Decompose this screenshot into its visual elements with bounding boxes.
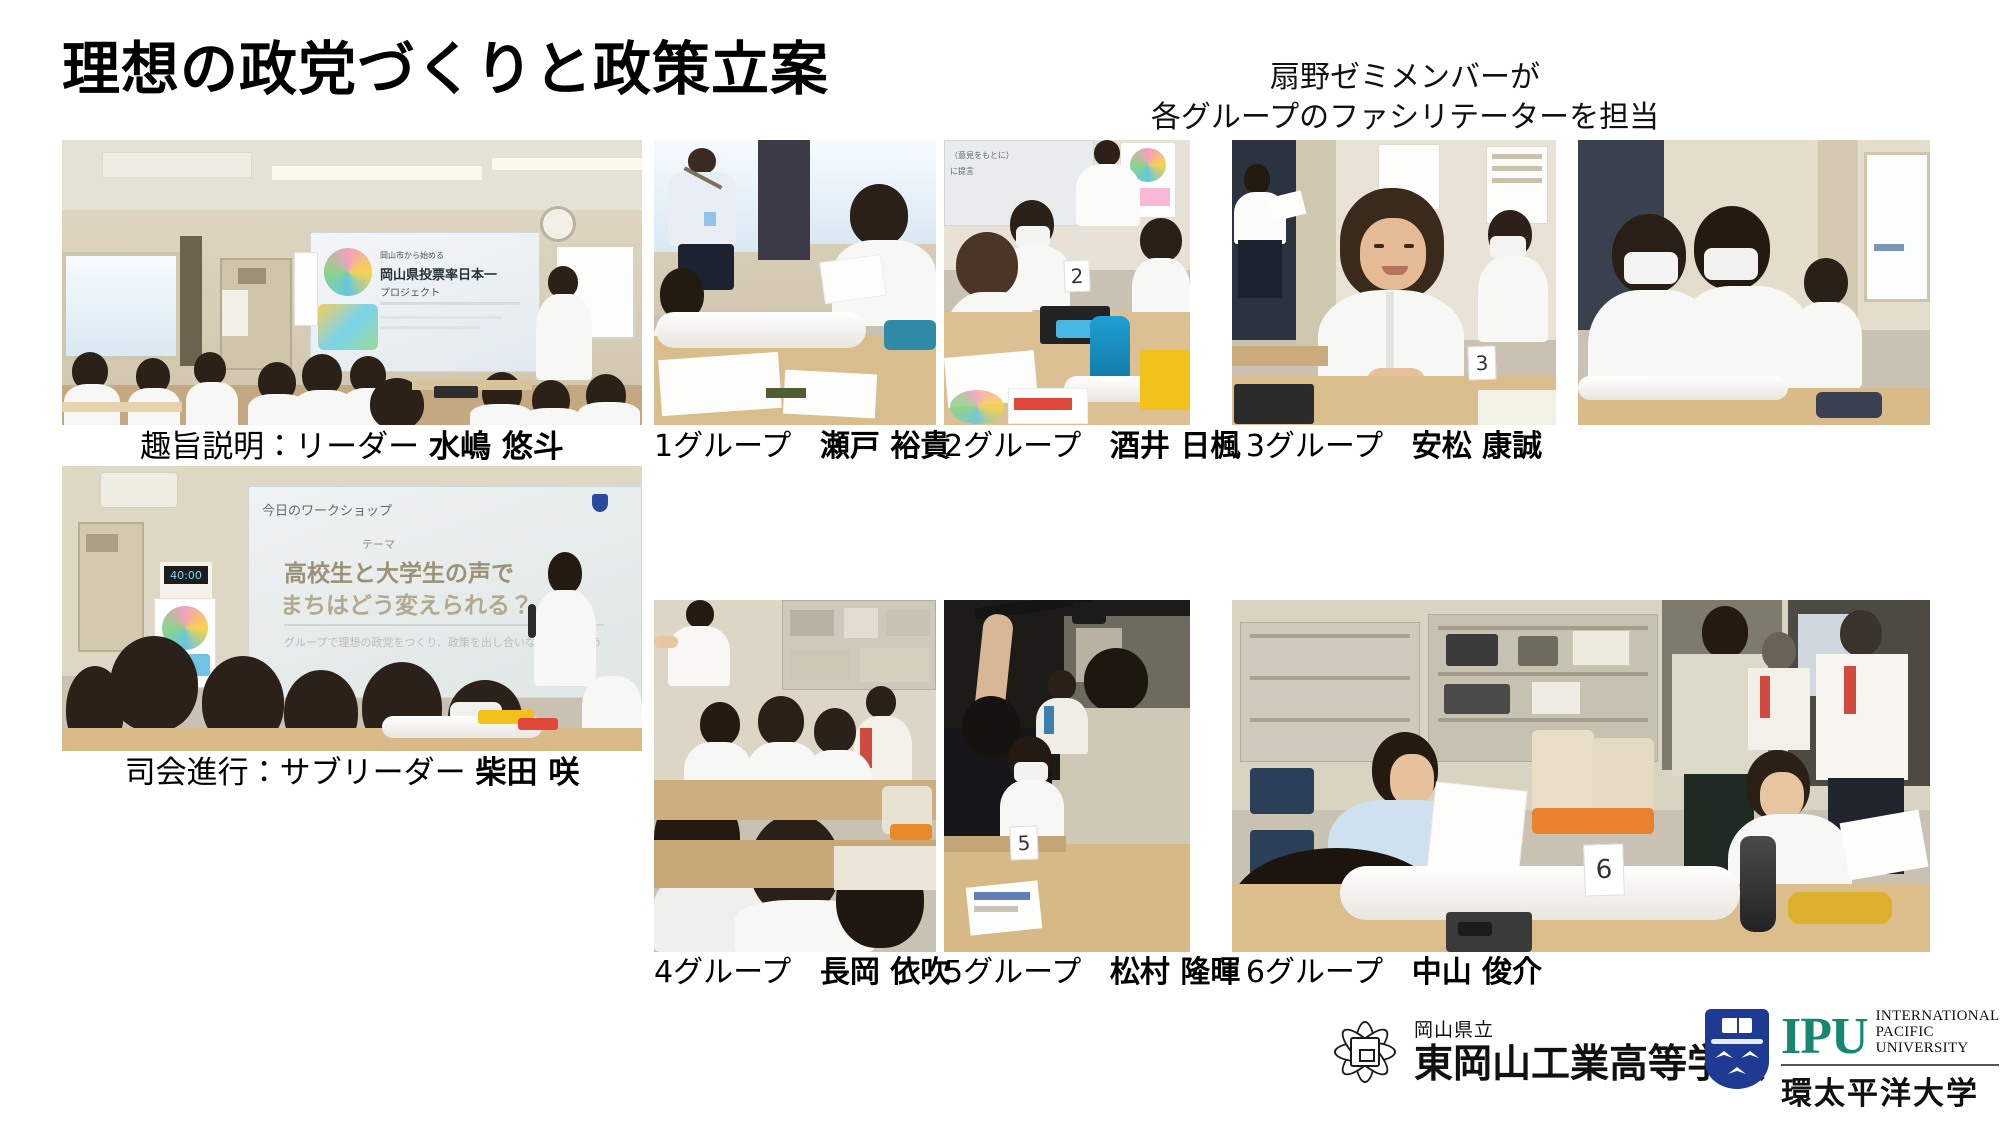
page-title: 理想の政党づくりと政策立案 bbox=[62, 22, 829, 106]
ipu-japanese-name: 環太平洋大学 bbox=[1781, 1068, 1999, 1113]
photo-group-3-extra[interactable] bbox=[1578, 140, 1930, 425]
photo-group-4-image bbox=[654, 600, 936, 952]
photo-intro[interactable]: 岡山市から始める 岡山県投票率日本一 プロジェクト bbox=[62, 140, 642, 425]
caption-intro-name: 水嶋 悠斗 bbox=[429, 429, 564, 465]
caption-mc-prefix: 司会進行：サブリーダー bbox=[125, 755, 466, 791]
photo-group-2-image: （意見をもとに） に提言 2 bbox=[944, 140, 1190, 425]
subtitle-line-1: 扇野ゼミメンバーが bbox=[1060, 58, 1750, 98]
caption-mc: 司会進行：サブリーダー 柴田 咲 bbox=[62, 758, 642, 789]
logo-highschool: 岡山県立 東岡山工業高等学校 bbox=[1328, 1015, 1765, 1089]
caption-group-2-name: 酒井 日楓 bbox=[1110, 429, 1240, 464]
subtitle-block: 扇野ゼミメンバーが 各グループのファシリテーターを担当 bbox=[1060, 58, 1750, 137]
mc-slide-line-1: 高校生と大学生の声で bbox=[284, 554, 514, 588]
caption-group-4: 4グループ 長岡 依吹 bbox=[654, 958, 936, 988]
caption-mc-name: 柴田 咲 bbox=[476, 755, 580, 791]
photo-group-3[interactable]: 3 bbox=[1232, 140, 1556, 425]
ipu-shield-icon bbox=[1705, 1009, 1769, 1089]
slide-line-1: 岡山市から始める bbox=[380, 250, 444, 261]
caption-group-3: 3グループ 安松 康誠 bbox=[1232, 432, 1556, 462]
photo-group-5-image: 5 bbox=[944, 600, 1190, 952]
logo-university: IPU INTERNATIONAL PACIFIC UNIVERSITY 環太平… bbox=[1705, 1009, 1999, 1113]
caption-group-6: 6グループ 中山 俊介 bbox=[1232, 958, 1556, 988]
photo-group-1[interactable] bbox=[654, 140, 936, 425]
table-number-card: 2 bbox=[1063, 260, 1090, 293]
slide-line-3: プロジェクト bbox=[380, 284, 440, 299]
school-crest-icon bbox=[1328, 1015, 1402, 1089]
ipu-en-line-1: INTERNATIONAL bbox=[1876, 1009, 2000, 1025]
caption-group-4-prefix: 4グループ bbox=[654, 955, 791, 990]
photo-group-1-image bbox=[654, 140, 936, 425]
caption-intro: 趣旨説明：リーダー 水嶋 悠斗 bbox=[62, 432, 642, 463]
subtitle-line-2: 各グループのファシリテーターを担当 bbox=[1060, 98, 1750, 138]
ipu-abbreviation: IPU bbox=[1781, 1014, 1868, 1061]
photo-group-2[interactable]: （意見をもとに） に提言 2 bbox=[944, 140, 1190, 425]
photo-group-3-extra-image bbox=[1578, 140, 1930, 425]
caption-group-5-name: 松村 隆暉 bbox=[1110, 955, 1240, 990]
photo-group-5[interactable]: 5 bbox=[944, 600, 1190, 952]
caption-group-1: 1グループ 瀬戸 裕貴 bbox=[654, 432, 936, 462]
mc-slide-line-2: まちはどう変えられる？ bbox=[280, 586, 533, 620]
caption-group-6-name: 中山 俊介 bbox=[1412, 955, 1542, 990]
caption-group-5-prefix: 5グループ bbox=[944, 955, 1081, 990]
table-number-card: 5 bbox=[1009, 826, 1038, 861]
logo-bar: 岡山県立 東岡山工業高等学校 IPU INTERNATIONAL PACIFIC… bbox=[1300, 1005, 2000, 1123]
ipu-en-line-2: PACIFIC bbox=[1876, 1025, 2000, 1041]
slide-root: 理想の政党づくりと政策立案 扇野ゼミメンバーが 各グループのファシリテーターを担… bbox=[0, 0, 2000, 1125]
mc-slide-theme-label: テーマ bbox=[362, 536, 395, 552]
caption-group-6-prefix: 6グループ bbox=[1246, 955, 1383, 990]
photo-group-6[interactable]: 6 bbox=[1232, 600, 1930, 952]
table-number-card: 3 bbox=[1467, 346, 1496, 381]
caption-group-4-name: 長岡 依吹 bbox=[820, 955, 950, 990]
mc-slide-header: 今日のワークショップ bbox=[262, 500, 392, 519]
photo-mc[interactable]: 40:00 今日のワークショップ テーマ 高校生と大学生の声で まちはどう変えら… bbox=[62, 466, 642, 751]
photo-group-6-image: 6 bbox=[1232, 600, 1930, 952]
photo-group-3-image: 3 bbox=[1232, 140, 1556, 425]
caption-group-1-prefix: 1グループ bbox=[654, 429, 791, 464]
photo-intro-image: 岡山市から始める 岡山県投票率日本一 プロジェクト bbox=[62, 140, 642, 425]
photo-mc-image: 40:00 今日のワークショップ テーマ 高校生と大学生の声で まちはどう変えら… bbox=[62, 466, 642, 751]
caption-group-3-prefix: 3グループ bbox=[1246, 429, 1383, 464]
ipu-en-line-3: UNIVERSITY bbox=[1876, 1041, 2000, 1057]
caption-group-5: 5グループ 松村 隆暉 bbox=[944, 958, 1190, 988]
photo-group-4[interactable] bbox=[654, 600, 936, 952]
ipu-divider bbox=[1781, 1064, 1999, 1066]
caption-group-1-name: 瀬戸 裕貴 bbox=[820, 429, 950, 464]
caption-group-2-prefix: 2グループ bbox=[944, 429, 1081, 464]
table-number-card: 6 bbox=[1583, 843, 1625, 896]
caption-intro-prefix: 趣旨説明：リーダー bbox=[140, 429, 419, 465]
caption-group-2: 2グループ 酒井 日楓 bbox=[944, 432, 1190, 462]
slide-line-2: 岡山県投票率日本一 bbox=[380, 264, 497, 283]
caption-group-3-name: 安松 康誠 bbox=[1412, 429, 1542, 464]
